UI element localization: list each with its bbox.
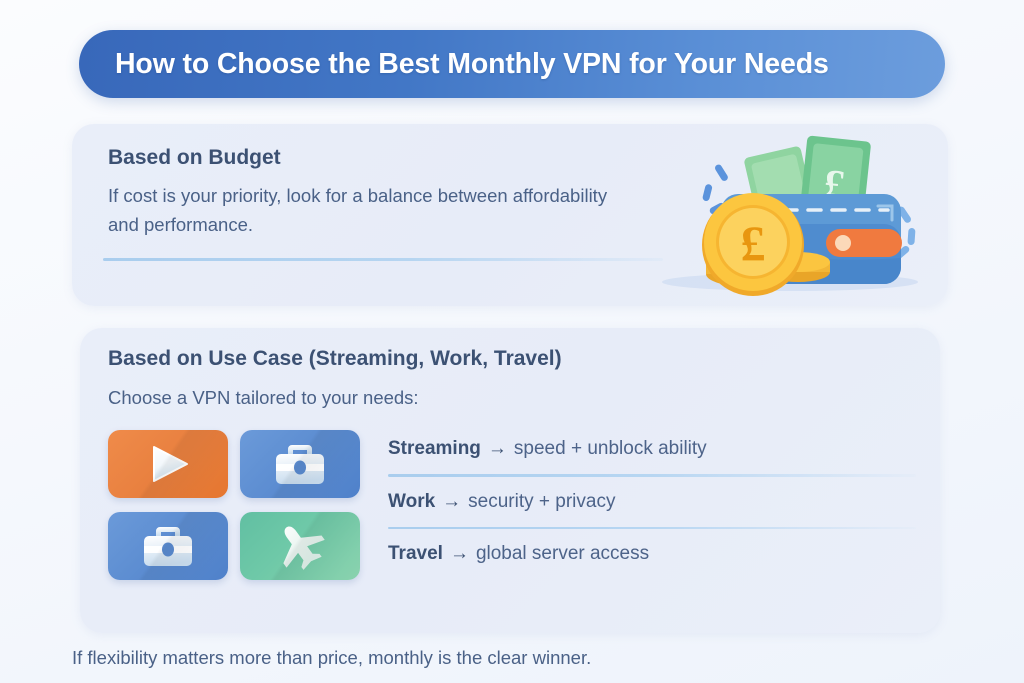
svg-text:£: £ xyxy=(741,215,766,271)
play-icon xyxy=(108,430,228,498)
usecase-term: Streaming xyxy=(388,438,481,460)
briefcase-icon xyxy=(108,512,228,580)
page-title: How to Choose the Best Monthly VPN for Y… xyxy=(115,50,829,79)
airplane-icon xyxy=(240,512,360,580)
budget-card: Based on Budget If cost is your priority… xyxy=(72,124,948,306)
usecase-row-travel: Travel → global server access xyxy=(388,529,916,579)
arrow-right-icon: → xyxy=(443,543,476,565)
tile-travel[interactable] xyxy=(240,512,360,580)
arrow-right-icon: → xyxy=(481,438,514,460)
usecase-card: Based on Use Case (Streaming, Work, Trav… xyxy=(80,328,940,633)
usecase-row-streaming: Streaming → speed + unblock ability xyxy=(388,424,916,474)
usecase-description: security + privacy xyxy=(468,491,615,513)
budget-card-body: If cost is your priority, look for a bal… xyxy=(108,182,628,240)
usecase-list: Streaming → speed + unblock ability Work… xyxy=(388,424,916,579)
infographic-page: How to Choose the Best Monthly VPN for Y… xyxy=(0,0,1024,683)
briefcase-icon xyxy=(240,430,360,498)
arrow-right-icon: → xyxy=(435,491,468,513)
tile-work-bottom[interactable] xyxy=(108,512,228,580)
usecase-tile-grid xyxy=(108,430,360,580)
budget-card-heading: Based on Budget xyxy=(108,147,281,168)
usecase-term: Work xyxy=(388,491,435,513)
wallet-with-money-illustration: £ xyxy=(640,132,940,302)
pound-coin: £ xyxy=(702,193,804,296)
usecase-description: global server access xyxy=(476,543,649,565)
usecase-card-subtitle: Choose a VPN tailored to your needs: xyxy=(108,384,419,413)
usecase-card-heading: Based on Use Case (Streaming, Work, Trav… xyxy=(108,348,562,369)
budget-card-divider xyxy=(103,258,663,261)
wallet-clasp-button xyxy=(835,235,851,251)
usecase-row-work: Work → security + privacy xyxy=(388,477,916,527)
tile-streaming[interactable] xyxy=(108,430,228,498)
wallet-svg: £ xyxy=(640,132,940,302)
tile-work-top[interactable] xyxy=(240,430,360,498)
usecase-description: speed + unblock ability xyxy=(514,438,707,460)
usecase-term: Travel xyxy=(388,543,443,565)
header-banner: How to Choose the Best Monthly VPN for Y… xyxy=(79,30,945,98)
footer-note: If flexibility matters more than price, … xyxy=(72,647,591,669)
